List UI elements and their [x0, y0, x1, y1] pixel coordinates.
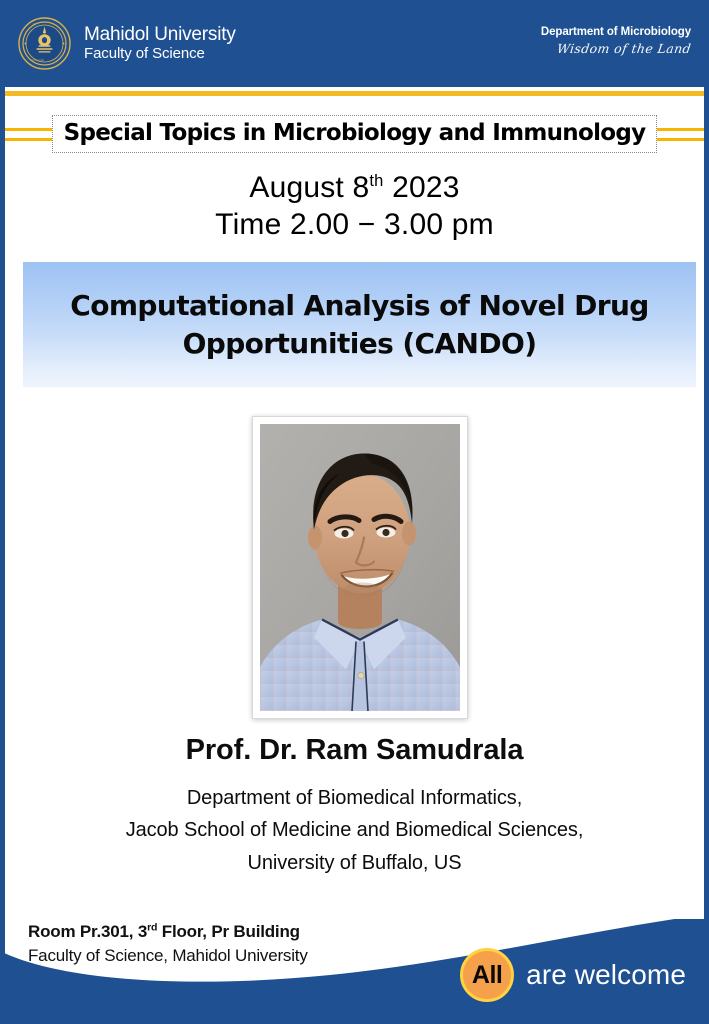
venue-room-suffix: Floor, Pr Building — [157, 922, 300, 941]
header-gold-divider — [0, 91, 709, 96]
university-names: Mahidol University Faculty of Science — [84, 24, 236, 62]
event-day-ordinal: th — [369, 172, 383, 190]
event-day: 8 — [353, 171, 370, 204]
svg-text:ห: ห — [43, 21, 45, 24]
talk-title: Computational Analysis of Novel Drug Opp… — [70, 287, 649, 361]
series-title-text: Special Topics in Microbiology and Immun… — [64, 121, 646, 146]
schedule-block: August 8th 2023 Time 2.00 − 3.00 pm — [5, 170, 704, 243]
event-month: August — [249, 171, 352, 204]
gold-rule-right — [657, 128, 704, 141]
series-title-row: Special Topics in Microbiology and Immun… — [5, 110, 704, 158]
venue-faculty: Faculty of Science, Mahidol University — [28, 944, 308, 968]
talk-title-band: Computational Analysis of Novel Drug Opp… — [23, 262, 696, 387]
venue-room: Room Pr.301, 3rd Floor, Pr Building — [28, 921, 308, 944]
speaker-block: Prof. Dr. Ram Samudrala Department of Bi… — [5, 733, 704, 879]
welcome-text: are welcome — [526, 959, 686, 991]
mahidol-seal-icon: ม ห ิ มหาวิทยาลัย — [18, 17, 71, 70]
venue-room-prefix: Room Pr.301, 3 — [28, 922, 147, 941]
faculty-name: Faculty of Science — [84, 46, 236, 63]
affiliation-line-1: Department of Biomedical Informatics, — [5, 782, 704, 814]
department-motto: Wisdom of the Land — [540, 41, 692, 56]
affiliation-line-2: Jacob School of Medicine and Biomedical … — [5, 814, 704, 846]
all-badge: All — [460, 948, 514, 1002]
poster-header: ม ห ิ มหาวิทยาลัย Mahidol University Fac… — [0, 0, 709, 87]
seminar-poster: ม ห ิ มหาวิทยาลัย Mahidol University Fac… — [0, 0, 709, 1024]
event-date: August 8th 2023 — [5, 170, 704, 207]
affiliation-line-3: University of Buffalo, US — [5, 847, 704, 879]
series-title-box: Special Topics in Microbiology and Immun… — [52, 115, 658, 154]
svg-text:ม: ม — [33, 23, 35, 26]
department-name: Department of Microbiology — [541, 26, 691, 38]
talk-title-line-2: Opportunities (CANDO) — [183, 327, 537, 360]
venue-room-ordinal: rd — [147, 921, 157, 933]
header-department-block: Department of Microbiology Wisdom of the… — [541, 26, 691, 56]
svg-text:มหาวิทยาลัย: มหาวิทยาลัย — [30, 58, 45, 62]
venue-block: Room Pr.301, 3rd Floor, Pr Building Facu… — [28, 921, 308, 968]
speaker-portrait — [260, 424, 460, 711]
all-are-welcome-block: All are welcome — [460, 948, 686, 1002]
speaker-photo-frame — [252, 416, 468, 719]
university-name: Mahidol University — [84, 24, 236, 45]
speaker-name: Prof. Dr. Ram Samudrala — [5, 733, 704, 768]
event-time: Time 2.00 − 3.00 pm — [5, 207, 704, 244]
gold-rule-left — [5, 128, 52, 141]
header-branding: ม ห ิ มหาวิทยาลัย Mahidol University Fac… — [18, 17, 236, 70]
speaker-affiliation: Department of Biomedical Informatics, Ja… — [5, 782, 704, 879]
talk-title-line-1: Computational Analysis of Novel Drug — [70, 289, 649, 322]
event-year: 2023 — [384, 171, 460, 204]
